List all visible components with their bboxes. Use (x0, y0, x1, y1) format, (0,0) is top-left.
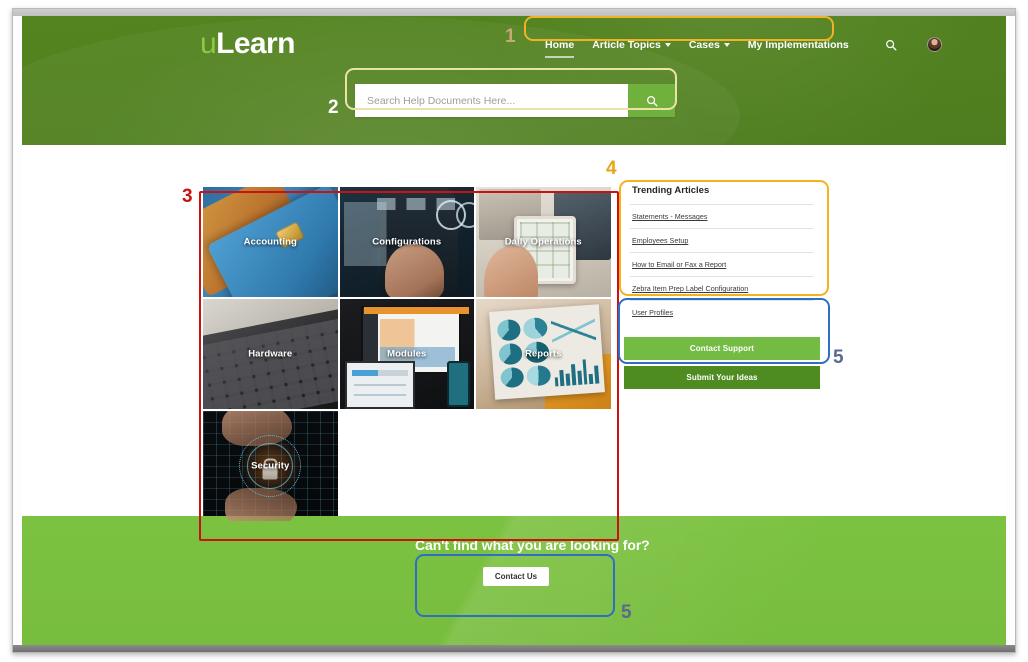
dashboard-header-bar (364, 307, 469, 314)
nav-item-my-implementations[interactable]: My Implementations (748, 39, 849, 51)
tile-label-configurations: Configurations (340, 237, 475, 248)
tile-label-reports: Reports (476, 349, 611, 360)
phone-graphic (447, 361, 470, 407)
tile-accounting[interactable]: Accounting (202, 186, 339, 298)
chevron-down-icon (724, 43, 730, 47)
site-logo[interactable]: uLearn (200, 27, 295, 61)
tile-security[interactable]: Security (202, 410, 339, 522)
tile-label-security: Security (203, 461, 338, 472)
tile-hardware[interactable]: Hardware (202, 298, 339, 410)
page-content: uLearn Home Article Topics Cases My Impl… (22, 16, 1006, 645)
site-header: uLearn Home Article Topics Cases My Impl… (22, 16, 1006, 145)
chevron-down-icon (665, 43, 671, 47)
logo-prefix: u (200, 27, 216, 60)
footer-cta: Can't find what you are looking for? Con… (415, 537, 617, 586)
nav-item-home[interactable]: Home (545, 39, 574, 51)
nav-label-cases: Cases (689, 39, 720, 51)
window-bottombar (13, 645, 1015, 652)
tile-reports[interactable]: Reports (475, 298, 612, 410)
laptop-graphic (345, 361, 415, 409)
logo-main: Learn (216, 27, 295, 60)
pie-slice (527, 364, 552, 386)
nav-item-article-topics[interactable]: Article Topics (592, 39, 671, 51)
keyboard-graphic (202, 318, 339, 410)
hand-graphic (484, 246, 538, 298)
main-navigation: Home Article Topics Cases My Implementat… (545, 35, 942, 54)
search-input[interactable] (355, 84, 628, 117)
screenshot-root: uLearn Home Article Topics Cases My Impl… (0, 0, 1028, 662)
nav-label-article-topics: Article Topics (592, 39, 661, 51)
main-body: Accounting Configurations (22, 145, 1006, 516)
nav-label-home: Home (545, 39, 574, 51)
trending-articles-card: Trending Articles Statements - Messages … (624, 175, 820, 326)
window-titlebar (13, 9, 1015, 16)
nav-search-icon[interactable] (885, 39, 897, 51)
config-hand-graphic (385, 244, 444, 298)
contact-support-button[interactable]: Contact Support (624, 337, 820, 360)
trending-articles-title: Trending Articles (630, 183, 814, 204)
contact-us-button[interactable]: Contact Us (483, 567, 549, 586)
nav-item-cases[interactable]: Cases (689, 39, 730, 51)
pie-slice (496, 318, 521, 340)
submit-your-ideas-button[interactable]: Submit Your Ideas (624, 366, 820, 389)
trending-link-user-profiles[interactable]: User Profiles (630, 300, 814, 324)
tile-label-daily-operations: Daily Operations (476, 237, 611, 248)
tile-label-accounting: Accounting (203, 237, 338, 248)
tile-label-hardware: Hardware (203, 349, 338, 360)
tile-configurations[interactable]: Configurations (339, 186, 476, 298)
avatar[interactable] (927, 37, 942, 52)
trending-link-employees-setup[interactable]: Employees Setup (630, 228, 814, 252)
trending-link-zebra-item-prep-label[interactable]: Zebra Item Prep Label Configuration (630, 276, 814, 300)
tile-daily-operations[interactable]: Daily Operations (475, 186, 612, 298)
tile-label-modules: Modules (340, 349, 475, 360)
category-grid: Accounting Configurations (202, 186, 614, 522)
hero-search (355, 84, 675, 117)
pie-slice (523, 317, 548, 339)
nav-label-my-implementations: My Implementations (748, 39, 849, 51)
footer-cta-title: Can't find what you are looking for? (415, 537, 617, 553)
sidebar-actions: Contact Support Submit Your Ideas (624, 337, 820, 389)
tile-modules[interactable]: Modules (339, 298, 476, 410)
sidebar-column: Trending Articles Statements - Messages … (624, 175, 820, 389)
line-chart-graphic (550, 313, 596, 346)
trending-link-email-or-fax-report[interactable]: How to Email or Fax a Report (630, 252, 814, 276)
search-icon (646, 95, 658, 107)
pie-slice (500, 366, 525, 388)
trending-link-statements-messages[interactable]: Statements - Messages (630, 204, 814, 228)
search-icon (885, 39, 897, 51)
site-footer: Can't find what you are looking for? Con… (22, 516, 1006, 645)
search-submit-button[interactable] (628, 84, 675, 117)
